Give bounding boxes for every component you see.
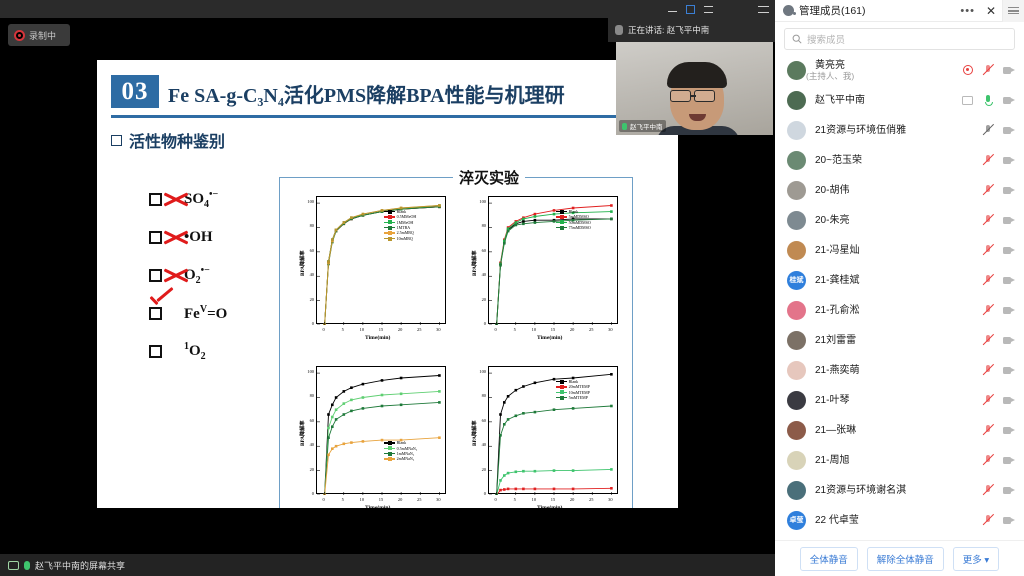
x-axis-tick: 20 (395, 497, 405, 502)
video-name-label: 赵飞平中南 (630, 121, 663, 131)
more-options-icon[interactable]: ••• (955, 5, 980, 17)
participant-icons (982, 304, 1015, 316)
close-icon[interactable]: ✕ (980, 4, 1002, 18)
participant-name: 20-胡伟 (815, 185, 849, 196)
mute-all-button[interactable]: 全体静音 (800, 547, 858, 571)
y-axis-tick: 60 (477, 248, 486, 253)
mic-muted-icon[interactable] (982, 154, 994, 166)
mic-muted-icon[interactable] (982, 394, 994, 406)
x-axis-tick: 25 (586, 327, 596, 332)
participant-row[interactable]: 21资源与环境谢名淇 (775, 475, 1024, 505)
y-axis-tick: 40 (305, 272, 314, 277)
legend-swatch (556, 386, 567, 387)
species-label: 1O2 (184, 341, 206, 362)
camera-icon[interactable] (1003, 94, 1015, 106)
x-axis-label: Time(min) (365, 335, 390, 341)
y-axis-tick: 100 (305, 369, 314, 374)
slide-subheading: 活性物种鉴别 (111, 128, 225, 152)
participant-name: 21资源与环境谢名淇 (815, 485, 906, 496)
more-button[interactable]: 更多 ▾ (953, 547, 999, 571)
participant-name: 黄亮亮 (815, 60, 854, 71)
participant-row[interactable]: 21-孔俞淞 (775, 295, 1024, 325)
mic-muted-icon[interactable] (982, 364, 994, 376)
x-axis-label: Time(min) (537, 335, 562, 341)
screen-share-icon[interactable] (962, 96, 973, 105)
legend-swatch (556, 222, 567, 223)
x-axis-tick: 0 (319, 497, 329, 502)
presentation-slide: 03 Fe SA-g-C₃N₄活化PMS降解BPA性能与机理研 活性物种鉴别 S… (97, 60, 678, 508)
unmute-all-button[interactable]: 解除全体静音 (867, 547, 944, 571)
y-axis-label: BPA降解率 (299, 250, 306, 276)
minimize-icon[interactable] (668, 7, 677, 12)
participant-icons (982, 334, 1015, 346)
recording-badge: 录制中 (8, 24, 70, 46)
camera-icon[interactable] (1003, 274, 1015, 286)
search-input[interactable]: 搜索成员 (784, 28, 1015, 50)
x-axis-tick: 30 (433, 327, 443, 332)
layout-icon[interactable] (758, 6, 769, 13)
camera-icon[interactable] (1003, 244, 1015, 256)
x-axis-tick: 5 (338, 497, 348, 502)
plot-canvas (489, 197, 619, 325)
avatar (787, 481, 806, 500)
chart-top-right: 020406080100051015202530Time(min)BPA降解率B… (458, 184, 628, 352)
search-area: 搜索成员 (775, 22, 1024, 55)
x-axis-tick: 30 (605, 327, 615, 332)
x-axis-tick: 0 (491, 497, 501, 502)
screen-share-area: 录制中 03 Fe SA-g-C₃N₄活化PMS降解BPA性能与机理研 活性物种… (0, 0, 775, 576)
speaker-video-tile[interactable]: 赵飞平中南 (616, 42, 773, 135)
avatar (787, 181, 806, 200)
chart-bottom-right: 020406080100051015202530Time(min)BPA降解率B… (458, 354, 628, 508)
slide-subheading-label: 活性物种鉴别 (129, 128, 225, 152)
participant-row[interactable]: 桂斌21-龚桂斌 (775, 265, 1024, 295)
legend-swatch (556, 211, 567, 212)
legend-swatch (384, 227, 395, 228)
x-axis-label: Time(min) (365, 505, 390, 508)
camera-icon[interactable] (1003, 424, 1015, 436)
avatar (787, 391, 806, 410)
y-axis-tick: 40 (477, 442, 486, 447)
participant-name: 20~范玉荣 (815, 155, 862, 166)
quenching-charts-panel: 020406080100051015202530Time(min)BPA降解率B… (279, 177, 633, 508)
legend-swatch (556, 216, 567, 217)
x-axis-tick: 5 (510, 497, 520, 502)
x-axis-tick: 10 (357, 327, 367, 332)
avatar: 桂斌 (787, 271, 806, 290)
legend-label: 10mMBQ (397, 236, 413, 241)
participant-icons (963, 64, 1015, 76)
x-axis-tick: 30 (605, 497, 615, 502)
y-axis-tick: 20 (477, 467, 486, 472)
y-axis-tick: 80 (477, 223, 486, 228)
participant-icons (982, 244, 1015, 256)
x-axis-tick: 10 (357, 497, 367, 502)
avatar (787, 61, 806, 80)
avatar (787, 451, 806, 470)
active-speaker-window: 正在讲话: 赵飞平中南 赵飞平中南 (608, 0, 775, 145)
participants-panel-header: 管理成员(161) ••• ✕ (775, 0, 1024, 22)
participant-icons (982, 154, 1015, 166)
participants-panel-title: 管理成员(161) (799, 3, 866, 18)
sidebar-toggle-icon[interactable] (1002, 0, 1024, 22)
plot-canvas (317, 197, 447, 325)
avatar (787, 211, 806, 230)
mic-on-icon[interactable] (982, 94, 994, 106)
camera-icon[interactable] (1003, 514, 1015, 526)
legend-swatch (384, 458, 395, 459)
x-axis-tick: 15 (376, 327, 386, 332)
legend-label: 5mMTEMP (569, 395, 588, 400)
x-axis-tick: 20 (567, 327, 577, 332)
camera-icon[interactable] (1003, 214, 1015, 226)
y-axis-tick: 0 (477, 321, 486, 326)
participant-name: 21-燕奕萌 (815, 365, 859, 376)
y-axis-tick: 20 (305, 297, 314, 302)
x-axis-tick: 5 (338, 327, 348, 332)
x-axis-tick: 20 (395, 327, 405, 332)
title-underline (111, 115, 664, 118)
legend-swatch (384, 442, 395, 443)
x-axis-tick: 20 (567, 497, 577, 502)
mic-muted-icon[interactable] (982, 424, 994, 436)
legend-swatch (556, 397, 567, 398)
share-status-bar: 赵飞平中南的屏幕共享 (0, 554, 775, 576)
mic-muted-icon[interactable] (982, 454, 994, 466)
camera-icon[interactable] (1003, 334, 1015, 346)
y-axis-tick: 20 (305, 467, 314, 472)
participant-row[interactable]: 21-叶琴 (775, 385, 1024, 415)
chart-legend: Blank0.5MMeOH1MMeOH1MTBA2.5mMBQ10mMBQ (384, 209, 417, 241)
menu-icon[interactable] (704, 6, 713, 13)
participant-row[interactable]: 20-朱亮 (775, 205, 1024, 235)
maximize-icon[interactable] (686, 5, 695, 14)
y-axis-tick: 0 (305, 321, 314, 326)
chart-legend: Blank5mMDMSO50mMDMSO75mMDMSO (556, 209, 591, 231)
avatar (787, 331, 806, 350)
participant-icons (982, 214, 1015, 226)
participant-name: 22 代卓莹 (815, 515, 859, 526)
avatar (787, 421, 806, 440)
chart-legend: Blank0.5mMNaN₃1mMNaN₃2mMNaN₃ (384, 440, 418, 462)
legend-swatch (384, 222, 395, 223)
mic-muted-icon[interactable] (982, 274, 994, 286)
legend-swatch (384, 211, 395, 212)
screen-share-icon (8, 561, 19, 570)
participant-name: 21-孔俞淞 (815, 305, 859, 316)
y-axis-label: BPA降解率 (471, 420, 478, 446)
x-axis-tick: 15 (376, 497, 386, 502)
camera-icon[interactable] (1003, 64, 1015, 76)
speaking-mic-icon (615, 25, 623, 35)
participant-icons (982, 484, 1015, 496)
slide-title: Fe SA-g-C₃N₄活化PMS降解BPA性能与机理研 (168, 79, 565, 108)
participants-panel: 管理成员(161) ••• ✕ 搜索成员 黄亮亮(主持人、我)赵飞平中南21资源… (775, 0, 1024, 576)
speaker-hair (667, 62, 727, 88)
species-label: •OH (184, 229, 213, 246)
y-axis-label: BPA降解率 (299, 420, 306, 446)
legend-swatch (384, 216, 395, 217)
participant-name: 20-朱亮 (815, 215, 849, 226)
participant-row[interactable]: 赵飞平中南 (775, 85, 1024, 115)
participant-name: 赵飞平中南 (815, 95, 865, 106)
participant-name: 21刘雷雷 (815, 335, 856, 346)
mic-muted-icon[interactable] (982, 184, 994, 196)
participant-row[interactable]: 20~范玉荣 (775, 145, 1024, 175)
avatar: 卓莹 (787, 511, 806, 530)
y-axis-tick: 60 (477, 418, 486, 423)
mic-muted-icon[interactable] (982, 514, 994, 526)
legend-swatch (384, 453, 395, 454)
x-axis-label: Time(min) (537, 505, 562, 508)
y-axis-tick: 40 (477, 272, 486, 277)
participant-icons (982, 424, 1015, 436)
plot-frame (488, 366, 618, 494)
participant-name: 21-叶琴 (815, 395, 849, 406)
participant-row[interactable]: 21-周旭 (775, 445, 1024, 475)
y-axis-tick: 0 (477, 491, 486, 496)
participant-role: (主持人、我) (806, 71, 854, 81)
panel-header-actions: ••• ✕ (955, 0, 1024, 22)
people-icon (783, 5, 794, 16)
mic-muted-icon[interactable] (982, 64, 994, 76)
speaking-label: 正在讲话: 赵飞平中南 (628, 24, 709, 36)
mic-muted-icon[interactable] (982, 484, 994, 496)
camera-icon[interactable] (1003, 304, 1015, 316)
x-axis-tick: 25 (414, 327, 424, 332)
participant-row[interactable]: 21—张琳 (775, 415, 1024, 445)
participants-panel-footer: 全体静音 解除全体静音 更多 ▾ (775, 540, 1024, 576)
slide-title-row: 03 Fe SA-g-C₃N₄活化PMS降解BPA性能与机理研 (111, 75, 565, 108)
checkbox-icon (149, 269, 162, 282)
legend-entry: 75mMDMSO (556, 225, 591, 230)
plot-canvas (317, 367, 447, 495)
participant-name: 21-龚桂斌 (815, 275, 859, 286)
legend-entry: 2mMNaN₃ (384, 456, 418, 461)
eyeglass-bridge (691, 95, 696, 97)
camera-icon[interactable] (1003, 394, 1015, 406)
legend-swatch (384, 238, 395, 239)
participant-row[interactable]: 21资源与环境伍俏雅 (775, 115, 1024, 145)
species-label: SO4•− (184, 189, 218, 210)
chart-bottom-left: 020406080100051015202530Time(min)BPA降解率B… (286, 354, 456, 508)
search-icon (792, 34, 802, 44)
y-axis-tick: 20 (477, 297, 486, 302)
x-axis-tick: 10 (529, 497, 539, 502)
participant-name: 21—张琳 (815, 425, 856, 436)
x-axis-tick: 25 (414, 497, 424, 502)
mic-icon[interactable] (982, 124, 994, 136)
y-axis-tick: 40 (305, 442, 314, 447)
participants-list[interactable]: 黄亮亮(主持人、我)赵飞平中南21资源与环境伍俏雅20~范玉荣20-胡伟20-朱… (775, 55, 1024, 541)
plot-frame (488, 196, 618, 324)
speaking-indicator-bar: 正在讲话: 赵飞平中南 (608, 18, 775, 42)
share-status-label: 赵飞平中南的屏幕共享 (35, 559, 125, 572)
legend-entry: 5mMTEMP (556, 395, 590, 400)
participant-icons (982, 184, 1015, 196)
mic-muted-icon[interactable] (982, 244, 994, 256)
y-axis-tick: 100 (305, 199, 314, 204)
x-axis-tick: 10 (529, 327, 539, 332)
camera-icon[interactable] (1003, 484, 1015, 496)
participant-icons (982, 364, 1015, 376)
avatar (787, 121, 806, 140)
camera-icon[interactable] (1003, 454, 1015, 466)
legend-swatch (556, 381, 567, 382)
x-axis-tick: 0 (491, 327, 501, 332)
eyeglass-left-icon (670, 90, 691, 102)
x-axis-tick: 30 (433, 497, 443, 502)
checkbox-icon (149, 345, 162, 358)
y-axis-tick: 100 (477, 369, 486, 374)
legend-label: 2mMNaN₃ (397, 456, 415, 461)
x-axis-tick: 15 (548, 327, 558, 332)
mic-muted-icon[interactable] (982, 304, 994, 316)
y-axis-tick: 60 (305, 418, 314, 423)
participant-icons (962, 94, 1015, 106)
recording-label: 录制中 (29, 29, 56, 42)
mic-muted-icon[interactable] (982, 214, 994, 226)
quenching-panel-title: 淬灭实验 (453, 167, 525, 188)
legend-swatch (384, 448, 395, 449)
participant-row[interactable]: 21-燕奕萌 (775, 355, 1024, 385)
legend-swatch (384, 232, 395, 233)
participant-row[interactable]: 黄亮亮(主持人、我) (775, 55, 1024, 85)
avatar (787, 91, 806, 110)
record-icon[interactable] (963, 65, 973, 75)
search-placeholder: 搜索成员 (807, 32, 845, 46)
participant-icons (982, 124, 1015, 136)
speaker-face (660, 62, 734, 135)
legend-swatch (556, 227, 567, 228)
avatar (787, 151, 806, 170)
mic-muted-icon[interactable] (982, 334, 994, 346)
x-axis-tick: 25 (586, 497, 596, 502)
eyeglass-right-icon (694, 90, 715, 102)
camera-icon[interactable] (1003, 364, 1015, 376)
legend-label: 75mMDMSO (569, 225, 591, 230)
participant-row[interactable]: 20-胡伟 (775, 175, 1024, 205)
checkbox-icon (149, 193, 162, 206)
avatar (787, 241, 806, 260)
plot-frame (316, 196, 446, 324)
participant-name: 21-冯星灿 (815, 245, 859, 256)
slide-number: 03 (111, 75, 159, 108)
participant-icons (982, 394, 1015, 406)
x-axis-tick: 0 (319, 327, 329, 332)
y-axis-tick: 60 (305, 248, 314, 253)
y-axis-tick: 80 (305, 393, 314, 398)
camera-icon[interactable] (1003, 154, 1015, 166)
mic-icon (24, 561, 30, 570)
mic-icon (622, 123, 627, 130)
checkbox-icon (149, 307, 162, 320)
y-axis-tick: 100 (477, 199, 486, 204)
participant-icons (982, 454, 1015, 466)
plot-frame (316, 366, 446, 494)
chart-legend: Blank20mMTEMP10mMTEMP5mMTEMP (556, 379, 590, 401)
video-name-badge: 赵飞平中南 (619, 120, 666, 132)
checkbox-icon (149, 231, 162, 244)
legend-swatch (556, 392, 567, 393)
square-bullet-icon (111, 135, 122, 146)
chart-top-left: 020406080100051015202530Time(min)BPA降解率B… (286, 184, 456, 352)
participant-icons (982, 514, 1015, 526)
y-axis-tick: 80 (477, 393, 486, 398)
participant-icons (982, 274, 1015, 286)
participant-row[interactable]: 21刘雷雷 (775, 325, 1024, 355)
video-window-controls[interactable] (608, 0, 775, 18)
participant-row[interactable]: 卓莹22 代卓莹 (775, 505, 1024, 535)
species-label: O2•− (184, 265, 210, 286)
y-axis-tick: 80 (305, 223, 314, 228)
avatar (787, 361, 806, 380)
y-axis-tick: 0 (305, 491, 314, 496)
participant-name: 21资源与环境伍俏雅 (815, 125, 906, 136)
camera-icon[interactable] (1003, 184, 1015, 196)
participant-row[interactable]: 21-冯星灿 (775, 235, 1024, 265)
x-axis-tick: 15 (548, 497, 558, 502)
camera-icon[interactable] (1003, 124, 1015, 136)
x-axis-tick: 5 (510, 327, 520, 332)
record-icon (14, 30, 25, 41)
y-axis-label: BPA降解率 (471, 250, 478, 276)
species-label: FeV=O (184, 304, 227, 323)
avatar (787, 301, 806, 320)
participant-name: 21-周旭 (815, 455, 849, 466)
legend-entry: 10mMBQ (384, 236, 417, 241)
plot-canvas (489, 367, 619, 495)
